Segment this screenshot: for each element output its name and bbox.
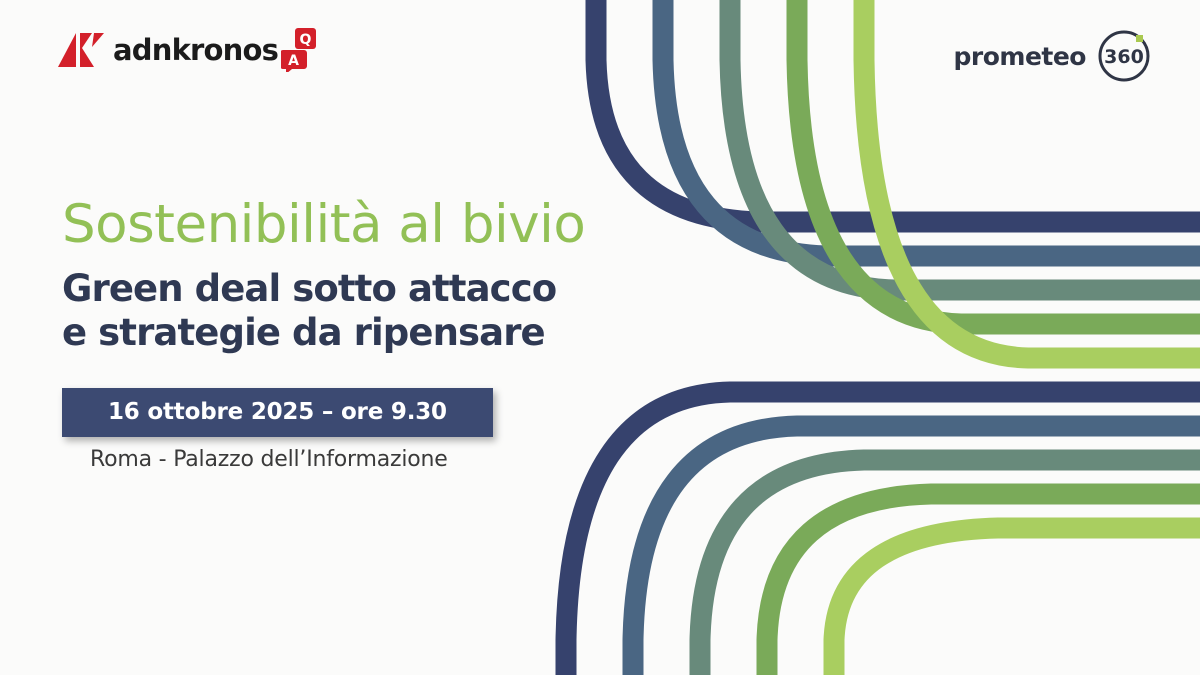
event-date-badge: 16 ottobre 2025 – ore 9.30 [62,388,493,437]
event-subtitle: Green deal sotto attacco e strategie da … [62,267,682,354]
arc-bottom-lightgreen [834,528,1200,675]
event-subtitle-line-2: e strategie da ripensare [62,311,682,355]
svg-text:A: A [288,53,299,69]
event-subtitle-line-1: Green deal sotto attacco [62,267,682,311]
headline-block: Sostenibilità al bivio Green deal sotto … [62,196,682,355]
prometeo-360-logo[interactable]: prometeo 360 [954,30,1153,82]
adnkronos-wordmark: adnkronos [113,36,278,65]
event-venue: Roma - Palazzo dell’Informazione [90,447,448,472]
adnkronos-qa-badges-icon: Q A [281,28,327,72]
svg-text:Q: Q [300,32,312,48]
prometeo-360-circle-badge-icon: 360 [1096,28,1152,84]
arc-bottom-steel [633,426,1200,675]
adnkronos-logo[interactable]: adnkronos Q A [58,25,327,75]
prometeo-wordmark: prometeo [954,44,1087,69]
arc-bottom-green [767,494,1200,675]
svg-text:360: 360 [1104,46,1144,68]
arc-bottom-sage [700,460,1200,675]
event-title: Sostenibilità al bivio [62,196,682,253]
event-poster: adnkronos Q A prometeo 360 Sostenibilità… [0,0,1200,675]
arc-bottom-navy [566,392,1200,675]
adnkronos-ak-monogram-icon [58,31,104,69]
